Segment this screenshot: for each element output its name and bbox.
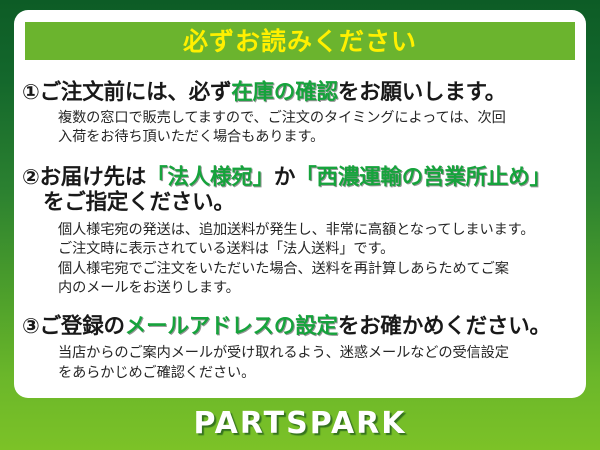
notice-item-2-heading-line-2: をご指定ください。 — [22, 190, 578, 215]
notice-item-2-heading-highlight-1: 「法人様宛」 — [146, 165, 274, 190]
notice-item-2-body-line-3: 個人様宅宛でご注文をいただいた場合、送料を再計算しあらためてご案 — [58, 260, 578, 279]
notice-item-1-body-line-2: 入荷をお待ち頂いただく場合もあります。 — [58, 128, 578, 147]
header-banner: 必ずお読みください — [25, 22, 575, 60]
notice-item-2-heading-part-3: か — [274, 165, 295, 190]
notice-item-2-heading-highlight-2: 「西濃運輸の営業所止め」 — [295, 165, 551, 190]
brand-logo-text: PARTSPARK — [193, 409, 406, 439]
notice-item-3-heading-part-3: をお確かめください。 — [338, 314, 551, 339]
notice-item-2-marker: ② — [22, 165, 40, 189]
notice-item-1-marker: ① — [22, 80, 40, 104]
notice-item-1-heading-part-3: をお願いします。 — [338, 80, 506, 105]
notice-item-3-heading: ③ご登録のメールアドレスの設定をお確かめください。 — [22, 314, 578, 339]
notice-item-1-heading: ①ご注文前には、必ず在庫の確認をお願いします。 — [22, 80, 578, 105]
notice-item-3-body: 当店からのご案内メールが受け取れるよう、迷惑メールなどの受信設定 をあらかじめご… — [22, 344, 578, 383]
notice-item-1-heading-highlight: 在庫の確認 — [231, 80, 338, 105]
notice-item-1-body-line-1: 複数の窓口で販売してますので、ご注文のタイミングによっては、次回 — [58, 109, 578, 128]
notice-item-1: ①ご注文前には、必ず在庫の確認をお願いします。 複数の窓口で販売してますので、ご… — [14, 80, 586, 148]
notice-panel: 必ずお読みください ①ご注文前には、必ず在庫の確認をお願いします。 複数の窓口で… — [14, 10, 586, 398]
notice-card: 必ずお読みください ①ご注文前には、必ず在庫の確認をお願いします。 複数の窓口で… — [0, 0, 600, 450]
notice-item-3-body-line-1: 当店からのご案内メールが受け取れるよう、迷惑メールなどの受信設定 — [58, 344, 578, 363]
notice-item-3-body-line-2: をあらかじめご確認ください。 — [58, 364, 578, 383]
notice-item-2-body: 個人様宅宛の発送は、追加送料が発生し、非常に高額となってしまいます。 ご注文時に… — [22, 221, 578, 298]
notice-item-3-heading-highlight: メールアドレスの設定 — [125, 314, 338, 339]
notice-item-2: ②お届け先は「法人様宛」か「西濃運輸の営業所止め」 をご指定ください。 個人様宅… — [14, 165, 586, 299]
notice-item-list: ①ご注文前には、必ず在庫の確認をお願いします。 複数の窓口で販売してますので、ご… — [14, 70, 586, 383]
notice-item-2-heading: ②お届け先は「法人様宛」か「西濃運輸の営業所止め」 — [22, 165, 578, 190]
notice-item-2-body-line-1: 個人様宅宛の発送は、追加送料が発生し、非常に高額となってしまいます。 — [58, 221, 578, 240]
notice-item-1-body: 複数の窓口で販売してますので、ご注文のタイミングによっては、次回 入荷をお待ち頂… — [22, 109, 578, 148]
notice-item-1-heading-part-1: ご注文前には、必ず — [40, 80, 232, 105]
notice-item-3: ③ご登録のメールアドレスの設定をお確かめください。 当店からのご案内メールが受け… — [14, 314, 586, 383]
notice-item-2-heading-part-1: お届け先は — [40, 165, 147, 190]
page-title: 必ずお読みください — [183, 29, 417, 54]
notice-item-3-marker: ③ — [22, 314, 40, 338]
notice-item-2-body-line-2: ご注文時に表示されている送料は「法人送料」です。 — [58, 240, 578, 259]
notice-item-2-body-line-4: 内のメールをお送りします。 — [58, 279, 578, 298]
notice-item-3-heading-part-1: ご登録の — [40, 314, 125, 339]
footer-brand-bar: PARTSPARK — [0, 398, 600, 450]
